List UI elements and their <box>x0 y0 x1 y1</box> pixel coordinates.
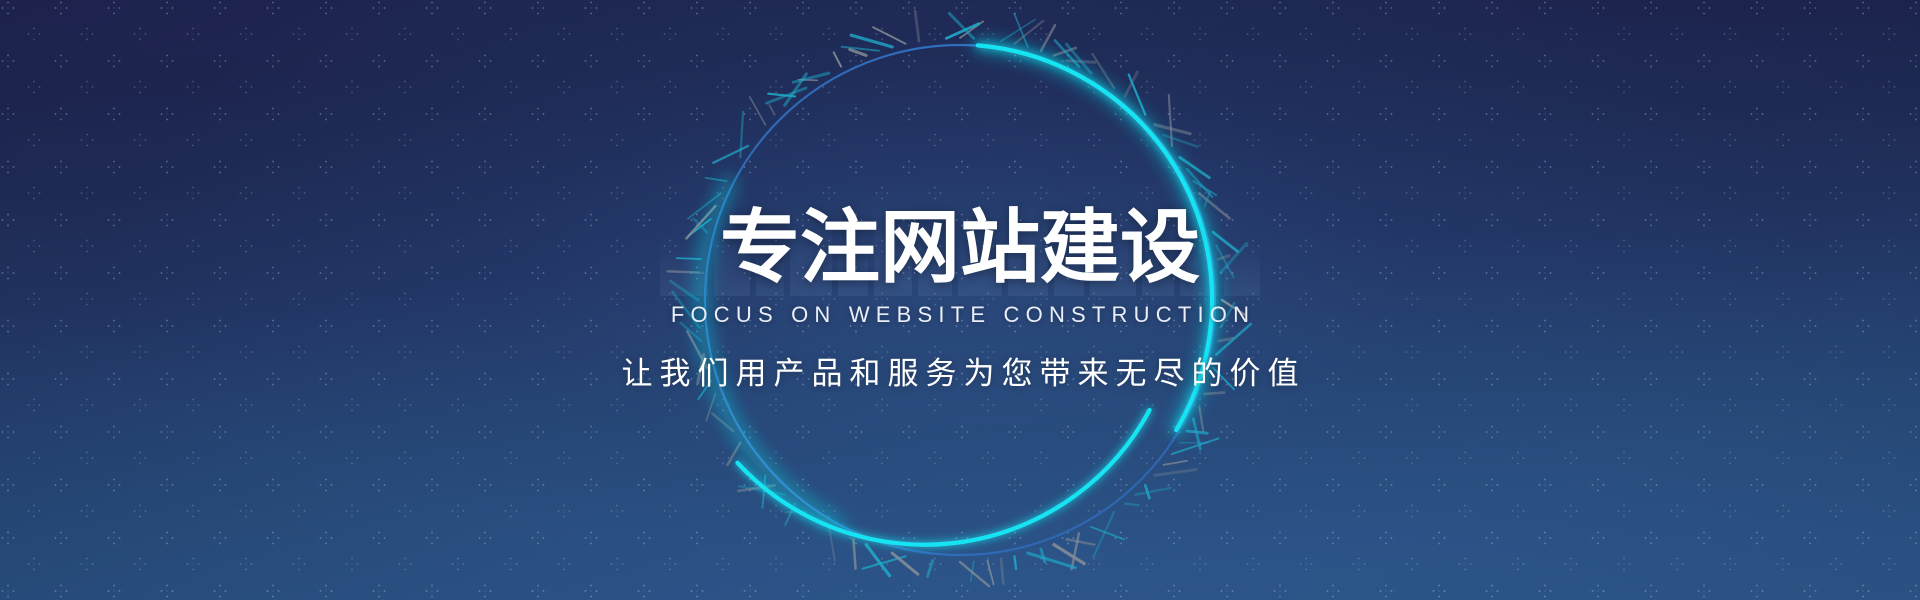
subtitle-english: FOCUS ON WEBSITE CONSTRUCTION <box>665 302 1255 328</box>
page-title: 专注网站建设 <box>720 208 1200 288</box>
hero-copy-block: 专注网站建设 FOCUS ON WEBSITE CONSTRUCTION 让我们… <box>0 0 1920 600</box>
tagline-chinese: 让我们用产品和服务为您带来无尽的价值 <box>615 348 1306 393</box>
hero-banner: 专注网站建设 FOCUS ON WEBSITE CONSTRUCTION 让我们… <box>0 0 1920 600</box>
